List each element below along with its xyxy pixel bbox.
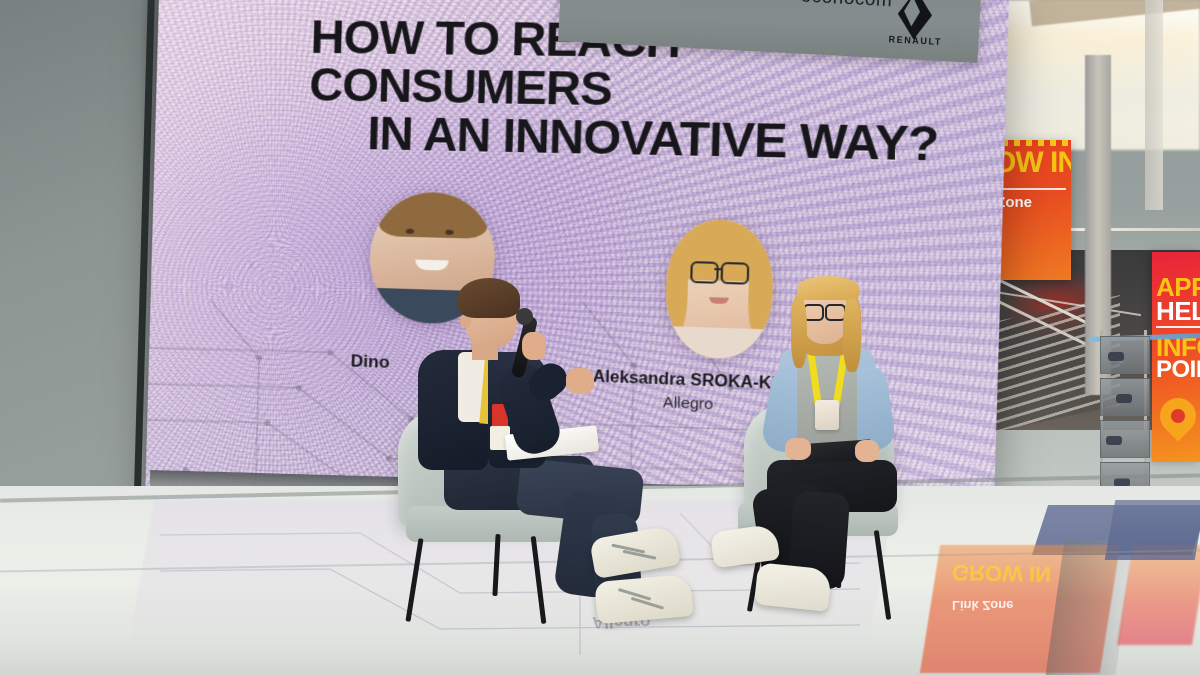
banner-line-point: POINT (1156, 356, 1200, 384)
speaker-1-name: Dino (350, 351, 389, 373)
sponsor-logo-econocom: econocom (800, 0, 893, 12)
banner-line-help: HELP (1156, 296, 1200, 327)
moderator-shoe-2 (594, 574, 693, 624)
speaker-2-org: Allegro (663, 394, 714, 414)
sponsor-logo-sodexo: sodexo (688, 0, 775, 3)
panelist-person (745, 282, 925, 612)
eyeglasses-icon (803, 304, 843, 318)
right-pillar (1145, 0, 1163, 210)
banner-divider-2 (1156, 326, 1200, 328)
renault-wordmark: RENAULT (888, 34, 942, 47)
map-pin-icon (1160, 398, 1196, 442)
panelist-badge (815, 400, 839, 430)
info-point-banner: APP HELP INFO POINT (1152, 252, 1200, 462)
microphone-head-icon (516, 308, 533, 325)
conference-photo-scene: GROW IN t Link Zone APP HELP INFO POINT (0, 0, 1200, 675)
sponsor-logo-renault: RENAULT (888, 0, 937, 51)
